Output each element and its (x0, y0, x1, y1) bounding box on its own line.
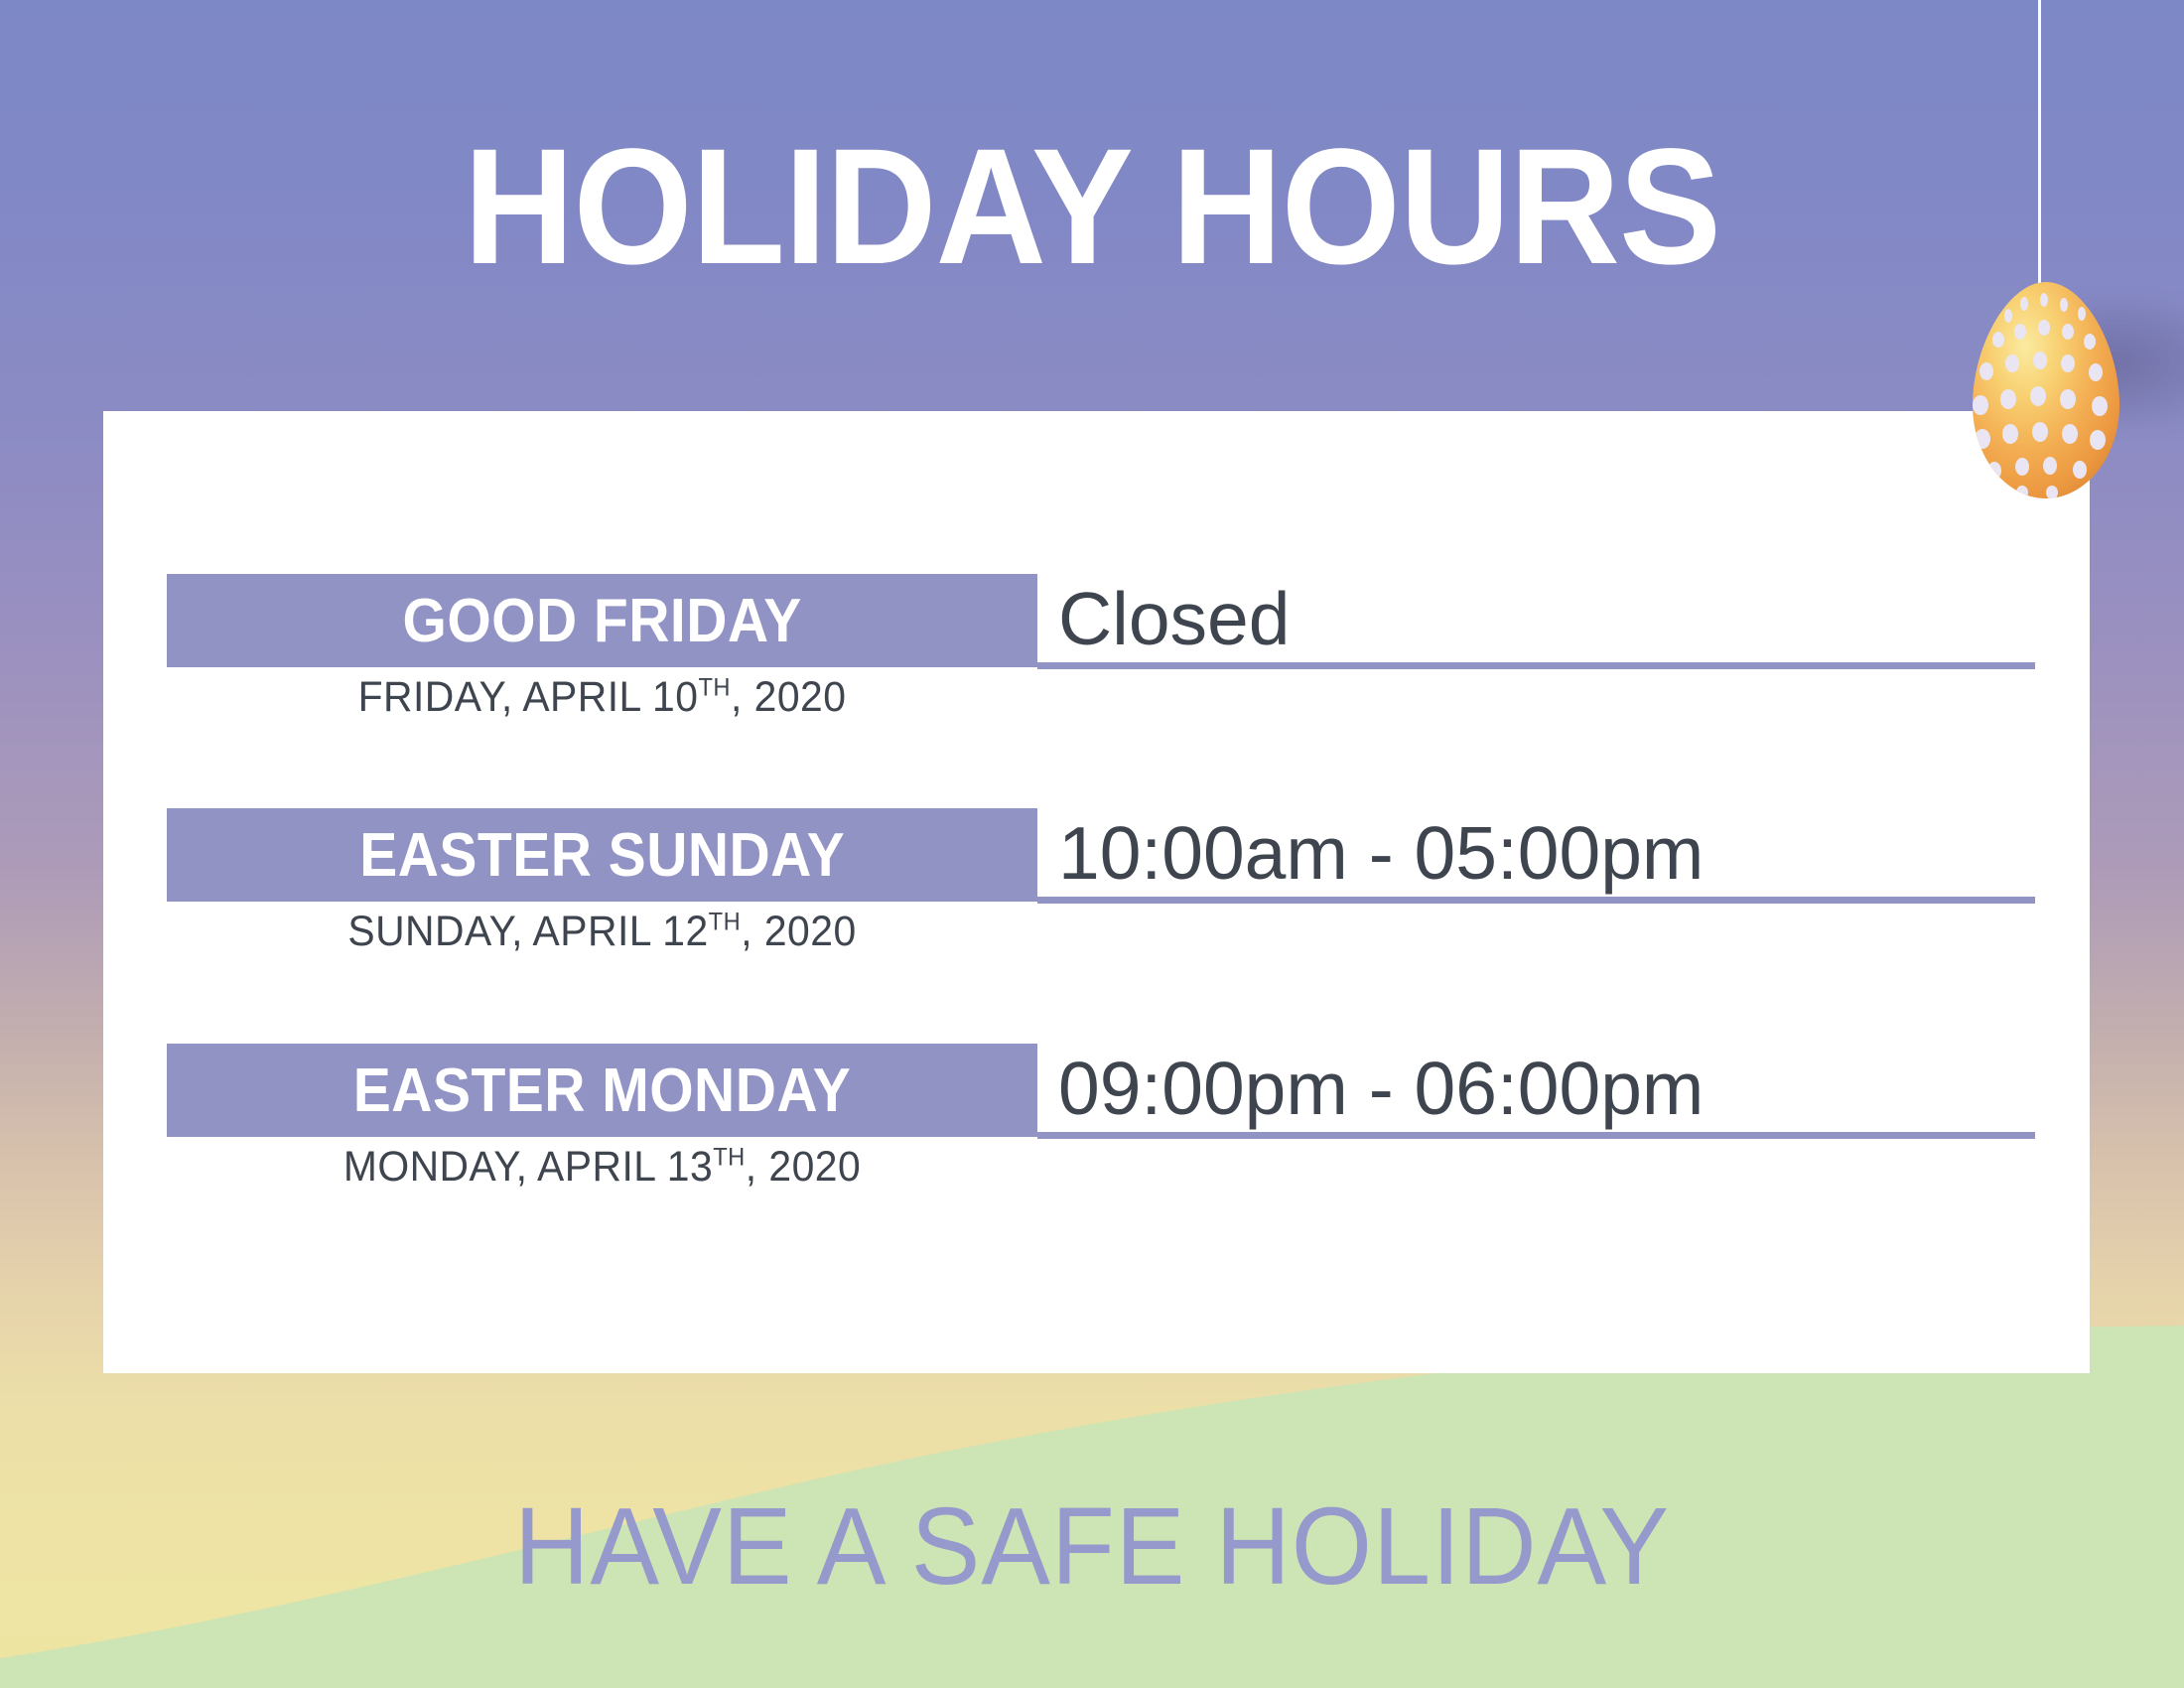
egg-shadow (2036, 298, 2184, 427)
date-suffix: , 2020 (746, 1143, 861, 1191)
holiday-name-label: EASTER MONDAY (353, 1055, 851, 1126)
holiday-name-band: EASTER MONDAY (167, 1044, 1037, 1137)
holiday-hours-poster: HOLIDAY HOURS GOOD FRIDAY Closed FRIDAY,… (0, 0, 2184, 1688)
holiday-name-band: EASTER SUNDAY (167, 808, 1037, 902)
holiday-name-label: GOOD FRIDAY (402, 586, 801, 656)
date-ordinal: TH (713, 1144, 746, 1172)
holiday-date-label: SUNDAY, APRIL 12TH, 2020 (189, 908, 1016, 956)
date-ordinal: TH (698, 674, 731, 702)
date-suffix: , 2020 (741, 908, 856, 955)
date-prefix: FRIDAY, APRIL 10 (358, 673, 699, 721)
holiday-date-label: MONDAY, APRIL 13TH, 2020 (189, 1143, 1016, 1192)
holiday-hours-value: 09:00pm - 06:00pm (1058, 1042, 2071, 1135)
holiday-hours-value: Closed (1058, 572, 2071, 665)
holiday-name-band: GOOD FRIDAY (167, 574, 1037, 667)
date-suffix: , 2020 (731, 673, 846, 721)
date-ordinal: TH (709, 909, 742, 936)
date-prefix: SUNDAY, APRIL 12 (347, 908, 708, 955)
page-title: HOLIDAY HOURS (76, 125, 2108, 290)
date-prefix: MONDAY, APRIL 13 (343, 1143, 713, 1191)
footer-message: HAVE A SAFE HOLIDAY (55, 1483, 2129, 1610)
schedule-card: GOOD FRIDAY Closed FRIDAY, APRIL 10TH, 2… (103, 411, 2090, 1373)
holiday-hours-value: 10:00am - 05:00pm (1058, 806, 2071, 900)
holiday-name-label: EASTER SUNDAY (359, 820, 845, 891)
holiday-date-label: FRIDAY, APRIL 10TH, 2020 (189, 673, 1016, 722)
